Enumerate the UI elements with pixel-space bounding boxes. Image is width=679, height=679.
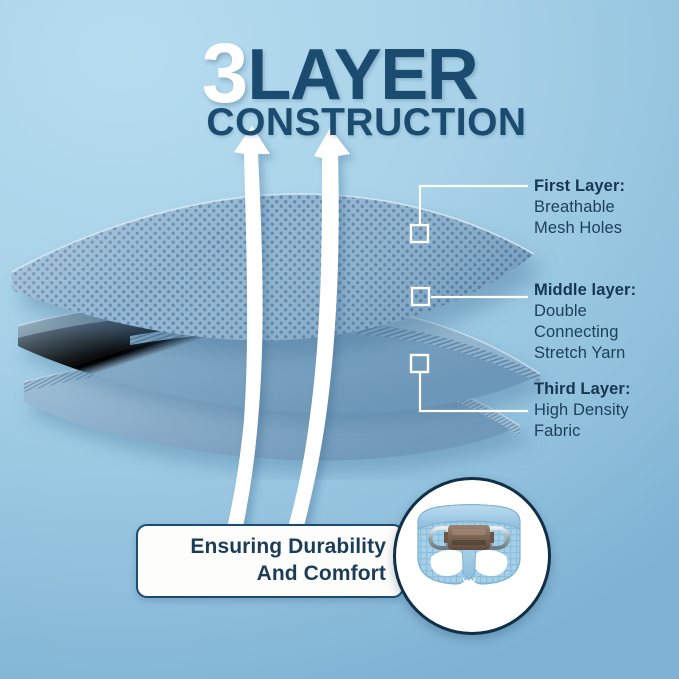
fabric-layers-illustration <box>0 150 560 480</box>
callout-first-layer: First Layer: Breathable Mesh Holes <box>534 176 625 239</box>
title-row-main: 3 LAYER <box>0 36 679 107</box>
tagline-line1: Ensuring Durability <box>190 534 386 561</box>
callout-third-layer-line1: High Density <box>534 400 631 421</box>
callout-third-layer-line2: Fabric <box>534 421 631 442</box>
title-word-construction: CONSTRUCTION <box>54 103 679 142</box>
callout-third-layer-heading: Third Layer: <box>534 379 631 400</box>
tagline-banner: Ensuring Durability And Comfort <box>136 524 404 598</box>
product-photo-circle <box>393 477 551 635</box>
callout-middle-layer-line1: Double <box>534 301 636 322</box>
callout-first-layer-heading: First Layer: <box>534 176 625 197</box>
callout-middle-layer: Middle layer: Double Connecting Stretch … <box>534 280 636 364</box>
title-word-layer: LAYER <box>247 45 477 107</box>
tagline-line2: And Comfort <box>257 561 386 588</box>
title-number: 3 <box>202 38 246 109</box>
harness-buckle <box>444 525 494 550</box>
dog-harness-icon <box>396 480 542 626</box>
callout-first-layer-line2: Mesh Holes <box>534 218 625 239</box>
callout-third-layer: Third Layer: High Density Fabric <box>534 379 631 442</box>
page-title: 3 LAYER CONSTRUCTION <box>0 36 679 142</box>
infographic-poster: 3 LAYER CONSTRUCTION First Layer: Breath… <box>0 0 679 679</box>
callout-middle-layer-line2: Connecting <box>534 322 636 343</box>
callout-middle-layer-heading: Middle layer: <box>534 280 636 301</box>
callout-middle-layer-line3: Stretch Yarn <box>534 343 636 364</box>
callout-first-layer-line1: Breathable <box>534 197 625 218</box>
